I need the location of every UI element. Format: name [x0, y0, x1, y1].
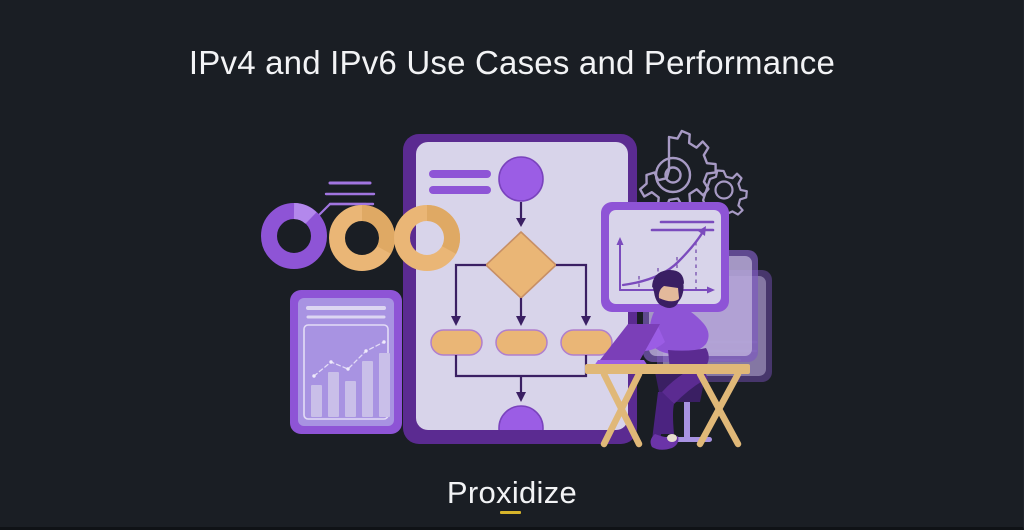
bar-chart-card	[290, 290, 402, 434]
brand-accent-underline	[500, 511, 521, 514]
donut-chart-orange-1	[337, 213, 387, 263]
flow-node-branch-2	[496, 330, 547, 355]
donut-chart-purple	[269, 211, 319, 261]
flow-node-start	[499, 157, 543, 201]
brand-name: Proxidize	[447, 475, 577, 510]
flow-node-branch-1	[431, 330, 482, 355]
brand-logo: Proxidize	[0, 475, 1024, 511]
analytics-workflow-illustration	[0, 110, 1024, 460]
page-title: IPv4 and IPv6 Use Cases and Performance	[0, 44, 1024, 82]
flow-node-branch-3	[561, 330, 612, 355]
slide-canvas: IPv4 and IPv6 Use Cases and Performance	[0, 0, 1024, 530]
